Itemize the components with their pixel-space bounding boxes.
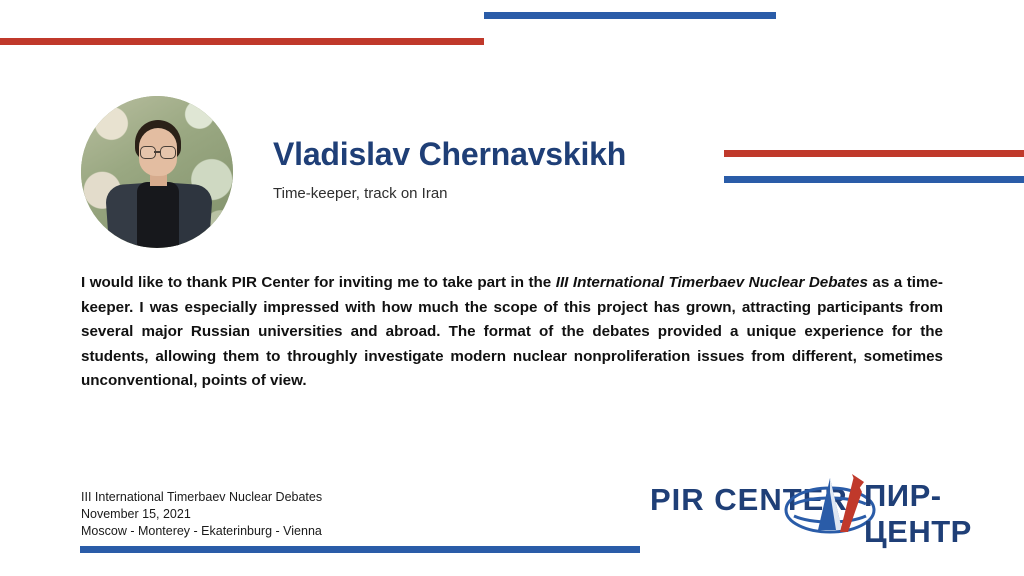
portrait-figure [81,96,233,248]
footer-block: III International Timerbaev Nuclear Deba… [81,489,322,540]
decorative-bar-top-blue [484,12,776,19]
decorative-bar-top-red [0,38,484,45]
portrait-glasses-bridge [154,151,160,153]
quote-part-1: I would like to thank PIR Center for inv… [81,274,556,291]
quote-emphasis: III International Timerbaev Nuclear Deba… [556,274,868,291]
footer-date: November 15, 2021 [81,506,322,523]
speaker-role: Time-keeper, track on Iran [273,185,448,202]
quote-part-2: as a time-keeper. I was especially impre… [81,274,943,389]
speaker-name: Vladislav Chernavskikh [273,136,626,173]
quote-text: I would like to thank PIR Center for inv… [81,271,943,394]
speaker-portrait [81,96,233,248]
decorative-bar-middle-red [724,150,1024,157]
decorative-bar-bottom-blue [80,546,640,553]
portrait-glasses-right-lens [160,146,176,159]
footer-event-title: III International Timerbaev Nuclear Deba… [81,489,322,506]
decorative-bar-middle-blue [724,176,1024,183]
logo-emblem-icon [784,470,876,538]
logo-text-russian: ПИР-ЦЕНТР [864,478,994,550]
footer-locations: Moscow - Monterey - Ekaterinburg - Vienn… [81,523,322,540]
slide-canvas: Vladislav Chernavskikh Time-keeper, trac… [0,0,1024,576]
portrait-glasses-left-lens [140,146,156,159]
portrait-shirt [137,182,179,248]
pir-center-logo: PIR CENTER ПИР-ЦЕНТР [650,470,994,538]
